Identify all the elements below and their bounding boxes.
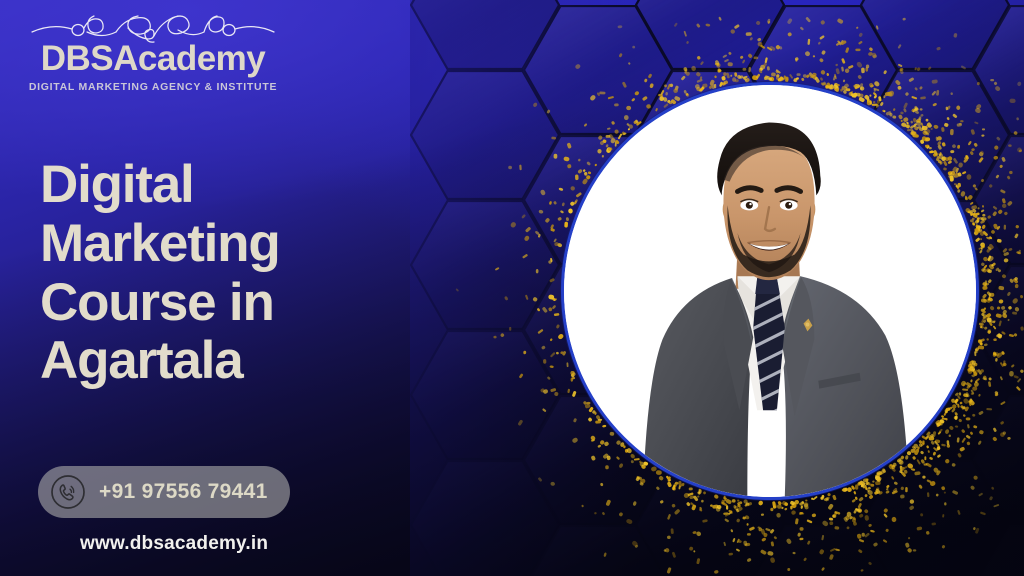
phone-call-icon — [50, 474, 86, 510]
brand-name: DBSAcademy — [28, 41, 278, 78]
headline-line-2: Marketing — [40, 215, 410, 274]
logo-block[interactable]: DBSAcademy DIGITAL MARKETING AGENCY & IN… — [28, 10, 278, 93]
hexagon-tile — [410, 460, 560, 576]
hexagon-tile — [410, 70, 560, 200]
hexagon-outline — [973, 5, 1024, 135]
headline-line-1: Digital — [40, 156, 410, 215]
hexagon-outline — [410, 460, 560, 576]
hexagon-outline — [973, 265, 1024, 395]
hexagon-outline — [973, 395, 1024, 525]
hexagon-tile — [860, 0, 1010, 70]
hexagon-tile — [973, 265, 1024, 395]
hexagon-tile — [410, 0, 560, 70]
hexagon-outline — [973, 135, 1024, 265]
phone-number: +91 97556 79441 — [99, 480, 268, 504]
hexagon-outline — [410, 0, 560, 70]
website-url[interactable]: www.dbsacademy.in — [80, 533, 268, 555]
hexagon-outline — [523, 525, 673, 576]
hexagon-outline — [635, 0, 785, 70]
hexagon-tile — [973, 395, 1024, 525]
hexagon-tile — [410, 200, 560, 330]
brand-tagline: DIGITAL MARKETING AGENCY & INSTITUTE — [28, 81, 278, 93]
hexagon-tile — [973, 525, 1024, 576]
hexagon-outline — [973, 525, 1024, 576]
headline-line-4: Agartala — [40, 332, 410, 391]
hexagon-outline — [410, 200, 560, 330]
hexagon-tile — [973, 135, 1024, 265]
hexagon-outline — [860, 0, 1010, 70]
avatar — [561, 82, 979, 500]
hexagon-tile — [410, 330, 560, 460]
promo-banner: DBSAcademy DIGITAL MARKETING AGENCY & IN… — [0, 0, 1024, 576]
headline-line-3: Course in — [40, 274, 410, 333]
page-title: Digital Marketing Course in Agartala — [40, 156, 410, 391]
hexagon-tile — [523, 525, 673, 576]
phone-contact-button[interactable]: +91 97556 79441 — [38, 466, 290, 518]
hexagon-outline — [410, 330, 560, 460]
hexagon-tile — [748, 525, 898, 576]
hexagon-tile — [973, 5, 1024, 135]
hexagon-tile — [635, 0, 785, 70]
hexagon-outline — [748, 525, 898, 576]
hexagon-outline — [410, 70, 560, 200]
